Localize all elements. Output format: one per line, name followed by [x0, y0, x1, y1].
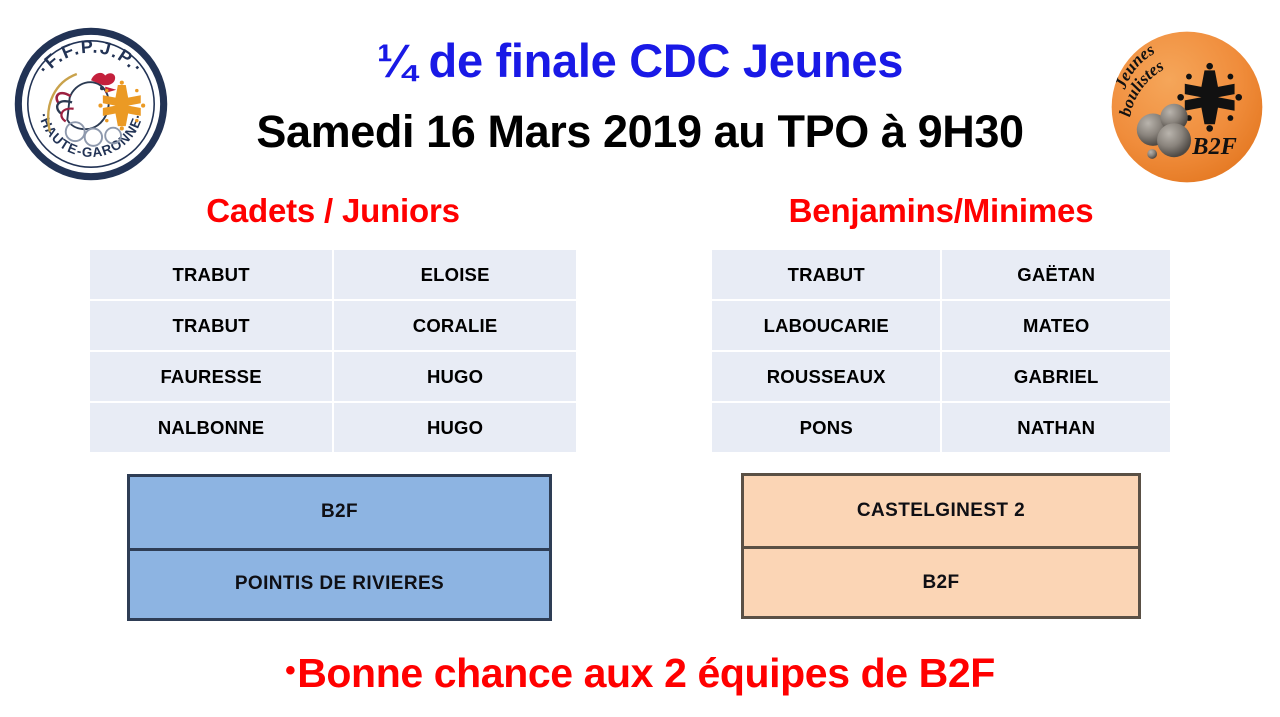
team-name-top: B2F [130, 477, 549, 548]
player-lastname: NALBONNE [90, 403, 332, 452]
player-firstname: HUGO [334, 352, 576, 401]
player-firstname: ELOISE [334, 250, 576, 299]
player-lastname: PONS [712, 403, 940, 452]
table-row: TRABUT ELOISE [90, 250, 576, 299]
player-firstname: NATHAN [942, 403, 1170, 452]
table-row: LABOUCARIE MATEO [712, 301, 1170, 350]
footer-message-text: Bonne chance aux 2 équipes de B2F [297, 650, 995, 696]
table-row: FAURESSE HUGO [90, 352, 576, 401]
players-table-benjamins: TRABUT GAËTAN LABOUCARIE MATEO ROUSSEAUX… [710, 248, 1172, 454]
table-row: PONS NATHAN [712, 403, 1170, 452]
player-firstname: GAËTAN [942, 250, 1170, 299]
category-header-benjamins: Benjamins/Minimes [710, 192, 1172, 230]
page-title: ¼ de finale CDC Jeunes [0, 36, 1280, 85]
table-row: TRABUT GAËTAN [712, 250, 1170, 299]
page-subtitle: Samedi 16 Mars 2019 au TPO à 9H30 [0, 108, 1280, 155]
player-lastname: LABOUCARIE [712, 301, 940, 350]
matchup-box-cadets: B2F POINTIS DE RIVIERES [127, 474, 552, 621]
team-name-bottom: B2F [744, 546, 1138, 616]
table-row: TRABUT CORALIE [90, 301, 576, 350]
player-lastname: TRABUT [712, 250, 940, 299]
player-firstname: MATEO [942, 301, 1170, 350]
bullet-icon: • [285, 654, 295, 687]
player-lastname: FAURESSE [90, 352, 332, 401]
player-lastname: TRABUT [90, 301, 332, 350]
player-firstname: CORALIE [334, 301, 576, 350]
matchup-box-benjamins: CASTELGINEST 2 B2F [741, 473, 1141, 619]
footer-message: •Bonne chance aux 2 équipes de B2F [0, 650, 1280, 697]
player-firstname: HUGO [334, 403, 576, 452]
category-header-cadets: Cadets / Juniors [88, 192, 578, 230]
team-name-top: CASTELGINEST 2 [744, 476, 1138, 546]
player-lastname: ROUSSEAUX [712, 352, 940, 401]
players-table-cadets: TRABUT ELOISE TRABUT CORALIE FAURESSE HU… [88, 248, 578, 454]
team-name-bottom: POINTIS DE RIVIERES [130, 548, 549, 619]
player-lastname: TRABUT [90, 250, 332, 299]
table-row: ROUSSEAUX GABRIEL [712, 352, 1170, 401]
table-row: NALBONNE HUGO [90, 403, 576, 452]
player-firstname: GABRIEL [942, 352, 1170, 401]
